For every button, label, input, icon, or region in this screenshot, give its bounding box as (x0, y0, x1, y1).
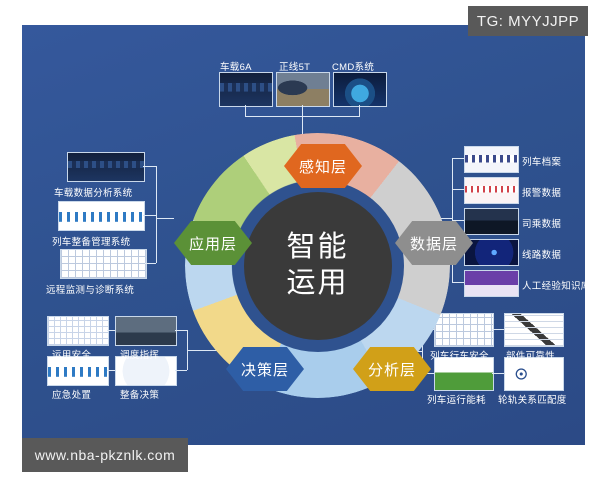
connector-app-to-hex (156, 218, 174, 219)
caption-remote-monitor-diagnosis: 远程监测与诊断系统 (46, 282, 134, 296)
core-line-2: 运用 (286, 266, 348, 301)
caption-train-archive: 列车档案 (522, 154, 561, 168)
caption-onboard-data-analysis: 车载数据分析系统 (54, 185, 132, 199)
connector-analysis-h1 (492, 329, 504, 330)
caption-operation-safety: 运用安全 (52, 347, 91, 361)
diagram-panel: 车载6A 正线5T CMD系统 车载数据分析系统 列车整备管理系统 远程监测与诊… (22, 25, 585, 445)
caption-dispatch-command: 调度指挥 (120, 347, 159, 361)
layer-chip-sense-label: 感知层 (299, 156, 347, 177)
connector-data-1 (452, 158, 464, 159)
watermark-top-right: TG: MYYJJPP (468, 6, 588, 36)
layer-chip-analysis-label: 分析层 (368, 359, 416, 380)
connector-sense-3 (359, 105, 360, 116)
connector-analysis-h2 (492, 373, 504, 374)
layer-chip-decision-label: 决策层 (241, 359, 289, 380)
thumbnail-onboard-6a (219, 72, 273, 107)
thumbnail-cmd-system (333, 72, 387, 107)
connector-app-bus (156, 166, 157, 263)
connector-app-3 (145, 263, 156, 264)
thumbnail-alarm-data (464, 177, 519, 204)
connector-app-1 (143, 166, 156, 167)
connector-app-2 (143, 215, 156, 216)
thumbnail-crew-data (464, 208, 519, 235)
caption-onboard-6a: 车载6A (220, 59, 252, 73)
caption-alarm-data: 报警数据 (522, 185, 561, 199)
connector-decision-h2 (107, 370, 115, 371)
thumbnail-onboard-data-analysis (67, 152, 145, 182)
connector-data-3 (452, 220, 464, 221)
thumbnail-dispatch-command (115, 316, 177, 346)
core-circle: 智能 运用 (244, 192, 392, 340)
core-line-1: 智能 (286, 230, 348, 265)
caption-expert-knowledge-base: 人工经验知识库 (522, 278, 591, 292)
layer-chip-application-label: 应用层 (189, 233, 237, 254)
thumbnail-component-reliability (504, 313, 564, 347)
thumbnail-remote-monitor-diagnosis (60, 249, 147, 279)
connector-sense-1 (245, 105, 246, 116)
thumbnail-wheel-rail-match (504, 357, 564, 391)
thumbnail-mainline-5t (276, 72, 330, 107)
caption-servicing-decision: 整备决策 (120, 387, 159, 401)
connector-data-5 (452, 282, 464, 283)
thumbnail-operation-safety (47, 316, 109, 346)
caption-component-reliability: 部件可靠性 (506, 348, 555, 362)
connector-data-2 (452, 189, 464, 190)
caption-crew-data: 司乘数据 (522, 216, 561, 230)
caption-line-data: 线路数据 (522, 247, 561, 261)
caption-cmd-system: CMD系统 (332, 59, 374, 73)
connector-decision-h1 (107, 330, 115, 331)
caption-emergency-handling: 应急处置 (52, 387, 91, 401)
thumbnail-train-archive (464, 146, 519, 173)
thumbnail-train-servicing-mgmt (58, 201, 145, 231)
thumbnail-expert-knowledge-base (464, 270, 519, 297)
caption-mainline-5t: 正线5T (279, 59, 310, 73)
connector-sense-2 (302, 105, 303, 116)
caption-train-servicing-mgmt: 列车整备管理系统 (52, 234, 130, 248)
layer-chip-data-label: 数据层 (410, 233, 458, 254)
watermark-bottom-left: www.nba-pkznlk.com (22, 438, 188, 472)
caption-wheel-rail-match: 轮轨关系匹配度 (498, 392, 567, 406)
